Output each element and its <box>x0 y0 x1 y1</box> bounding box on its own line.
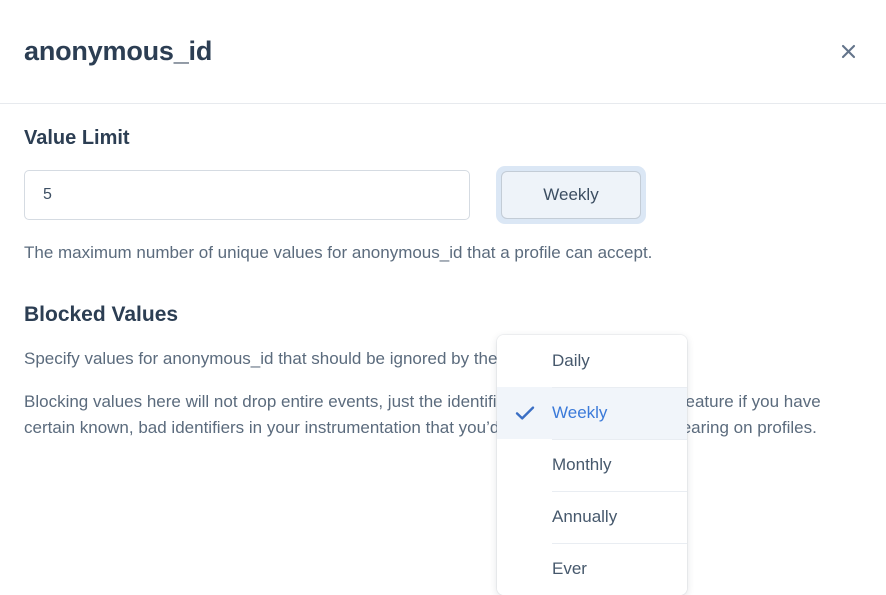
dropdown-item-weekly[interactable]: Weekly <box>497 387 687 439</box>
dropdown-item-label: Daily <box>552 351 687 371</box>
interval-select-button[interactable]: Weekly <box>501 171 641 219</box>
dropdown-item-monthly[interactable]: Monthly <box>497 439 687 491</box>
value-limit-input[interactable] <box>24 170 470 220</box>
check-slot <box>497 405 552 421</box>
blocked-values-paragraph-1: Specify values for anonymous_id that sho… <box>24 346 862 372</box>
dropdown-item-annually[interactable]: Annually <box>497 491 687 543</box>
interval-dropdown-menu[interactable]: Daily Weekly Monthly Annually <box>497 335 687 595</box>
modal-header: anonymous_id <box>0 0 886 104</box>
dropdown-item-label: Ever <box>552 559 687 579</box>
blocked-values-heading: Blocked Values <box>24 302 862 328</box>
modal-body: Value Limit Weekly The maximum number of… <box>0 104 886 532</box>
value-limit-row: Weekly <box>24 166 862 224</box>
dropdown-item-ever[interactable]: Ever <box>497 543 687 595</box>
page-title: anonymous_id <box>24 35 212 67</box>
dropdown-item-daily[interactable]: Daily <box>497 335 687 387</box>
value-limit-help-text: The maximum number of unique values for … <box>24 240 860 266</box>
dropdown-item-label: Annually <box>552 507 687 527</box>
check-icon <box>515 405 535 421</box>
dropdown-item-label: Weekly <box>552 403 687 423</box>
dropdown-item-label: Monthly <box>552 455 687 475</box>
value-limit-label: Value Limit <box>24 126 862 151</box>
blocked-values-paragraph-2: Blocking values here will not drop entir… <box>24 389 862 442</box>
close-button[interactable] <box>834 38 862 66</box>
modal-dialog: anonymous_id Value Limit Weekly The maxi… <box>0 0 886 532</box>
interval-select-focus-ring: Weekly <box>496 166 646 224</box>
close-icon <box>840 43 857 60</box>
